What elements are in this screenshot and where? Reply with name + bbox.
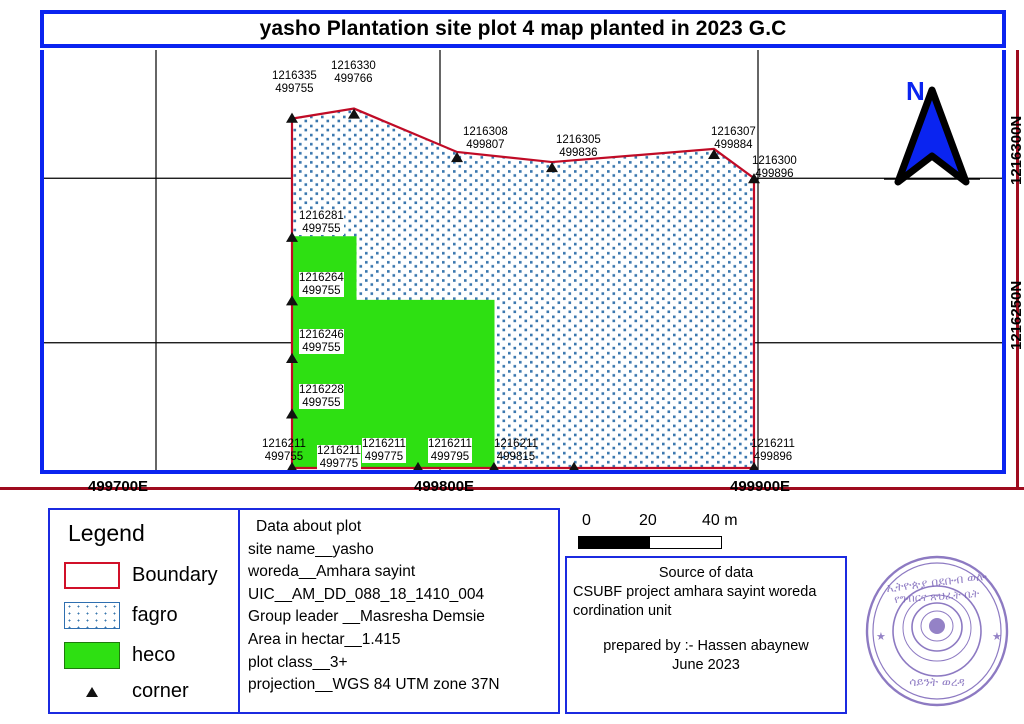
bottom-red-rule <box>0 487 1024 490</box>
legend-item-fagro[interactable]: fagro <box>64 602 178 629</box>
source-line-2: cordination unit <box>573 602 839 621</box>
corner-label-1216211-c: 1216211 499775 <box>362 438 406 463</box>
fagro-swatch <box>64 602 120 629</box>
source-spacer <box>573 621 839 637</box>
corner-label-1216307: 1216307 499884 <box>711 126 756 151</box>
corner-label-1216211-b: 1216211 499775 <box>317 445 361 470</box>
heco-swatch <box>64 642 120 669</box>
x-axis-label-3: 499900E <box>730 478 790 495</box>
official-seal-stamp: ኢትዮጵያ በደቡብ ወሎ የግብርና ጽህፈት ቤት ሳይንት ወረዳ ★ ★ <box>858 548 1016 714</box>
data-line-site-name: site name__yasho <box>248 539 550 562</box>
svg-text:★: ★ <box>876 630 886 643</box>
corner-label-1216228: 1216228 499755 <box>299 384 344 409</box>
legend-item-heco[interactable]: heco <box>64 642 175 669</box>
data-line-plot-class: plot class__3+ <box>248 652 550 675</box>
map-canvas[interactable] <box>44 50 1002 470</box>
plot-data-panel: Data about plot site name__yasho woreda_… <box>238 508 560 714</box>
y-axis-label-2: 1216250N <box>1008 281 1024 350</box>
corner-label-1216211-f: 1216211 499896 <box>751 438 795 463</box>
legend-item-boundary[interactable]: Boundary <box>64 562 218 589</box>
scale-tick-40: 40 m <box>702 512 738 530</box>
boundary-swatch <box>64 562 120 589</box>
data-panel-heading: Data about plot <box>248 516 550 539</box>
legend-item-corner[interactable]: corner <box>64 680 189 703</box>
page-title: yasho Plantation site plot 4 map planted… <box>260 17 787 41</box>
corner-label-1216211-d: 1216211 499795 <box>428 438 472 463</box>
corner-label-1216308: 1216308 499807 <box>463 126 508 151</box>
scale-bar-group: 0 20 40 m <box>578 512 828 549</box>
data-line-area: Area in hectar__1.415 <box>248 629 550 652</box>
source-line-1: CSUBF project amhara sayint woreda <box>573 583 839 602</box>
corner-label-1216300: 1216300 499896 <box>752 155 797 180</box>
corner-label-1216281: 1216281 499755 <box>299 210 344 235</box>
legend-panel: Legend Boundary fagro heco corner <box>48 508 260 714</box>
source-of-data-panel: Source of data CSUBF project amhara sayi… <box>565 556 847 714</box>
legend-title: Legend <box>68 520 145 547</box>
legend-label-fagro: fagro <box>132 604 178 627</box>
corner-label-1216211-a: 1216211 499755 <box>262 438 306 463</box>
scale-tick-0: 0 <box>582 512 591 530</box>
legend-label-boundary: Boundary <box>132 564 218 587</box>
map-title-box: yasho Plantation site plot 4 map planted… <box>40 10 1006 48</box>
y-axis-label-1: 1216300N <box>1008 116 1024 185</box>
map-frame[interactable] <box>40 50 1006 474</box>
data-line-group-leader: Group leader __Masresha Demsie <box>248 606 550 629</box>
source-heading: Source of data <box>573 564 839 583</box>
scale-tick-20: 20 <box>639 512 657 530</box>
x-axis-label-1: 499700E <box>88 478 148 495</box>
corner-label-1216264: 1216264 499755 <box>299 272 344 297</box>
x-axis-label-2: 499800E <box>414 478 474 495</box>
corner-label-1216246: 1216246 499755 <box>299 329 344 354</box>
legend-label-heco: heco <box>132 644 175 667</box>
corner-label-1216335: 1216335 499755 <box>272 70 317 95</box>
corner-label-1216330: 1216330 499766 <box>331 60 376 85</box>
legend-label-corner: corner <box>132 680 189 703</box>
svg-text:★: ★ <box>992 630 1002 643</box>
data-line-uic: UIC__AM_DD_088_18_1410_004 <box>248 584 550 607</box>
corner-label-1216305: 1216305 499836 <box>556 134 601 159</box>
svg-text:ሳይንት ወረዳ: ሳይንት ወረዳ <box>909 675 964 689</box>
data-line-woreda: woreda__Amhara sayint <box>248 561 550 584</box>
data-line-projection: projection__WGS 84 UTM zone 37N <box>248 674 550 697</box>
corner-label-1216211-e: 1216211 499815 <box>494 438 538 463</box>
north-arrow-icon <box>884 78 980 188</box>
prepared-by: prepared by :- Hassen abaynew <box>573 637 839 656</box>
prepared-date: June 2023 <box>573 656 839 675</box>
scale-bar <box>578 536 722 549</box>
corner-triangle-icon <box>64 686 120 698</box>
scale-bar-filled-half <box>579 537 650 548</box>
scale-tick-labels: 0 20 40 m <box>578 512 828 534</box>
